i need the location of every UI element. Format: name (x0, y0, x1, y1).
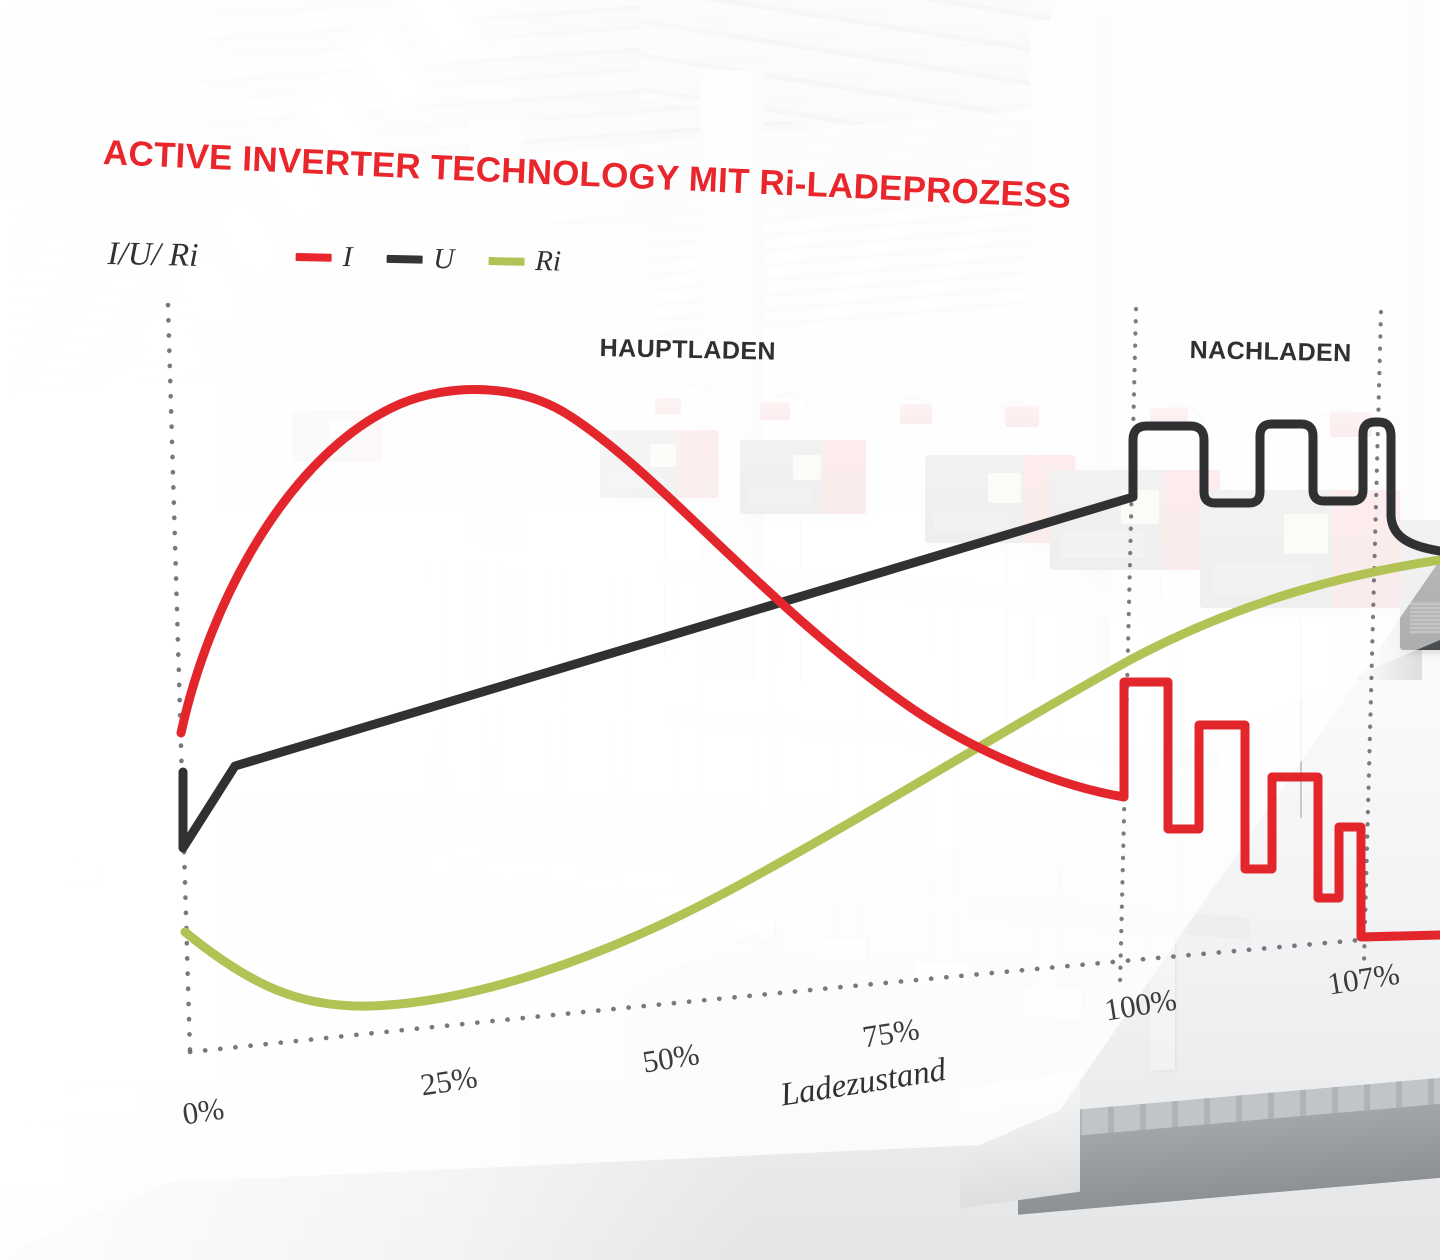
gridline-107pct (1364, 312, 1381, 962)
x-tick-0: 0% (180, 1091, 226, 1133)
legend-label-U: U (433, 243, 455, 276)
chart-legend: I U Ri (295, 240, 583, 279)
legend-label-I: I (342, 241, 352, 274)
gridline-0pct (168, 305, 190, 1052)
infographic-stage: .dotgrid{stroke:#6b6e71;stroke-width:4.6… (0, 0, 1440, 1260)
legend-swatch-Ri (488, 257, 524, 266)
phase-label-nachladen: NACHLADEN (1189, 336, 1352, 368)
legend-swatch-U (386, 254, 422, 263)
phase-label-hauptladen: HAUPTLADEN (599, 334, 776, 367)
legend-item-Ri: Ri (488, 244, 561, 279)
curve-I (181, 389, 1440, 937)
legend-label-Ri: Ri (535, 245, 561, 279)
gridline-100pct (1120, 309, 1136, 986)
legend-item-U: U (386, 242, 455, 276)
axis-baseline (190, 933, 1440, 1052)
legend-swatch-I (296, 252, 332, 261)
legend-item-I: I (295, 240, 352, 274)
y-axis-title: I/U/ Ri (107, 236, 198, 275)
